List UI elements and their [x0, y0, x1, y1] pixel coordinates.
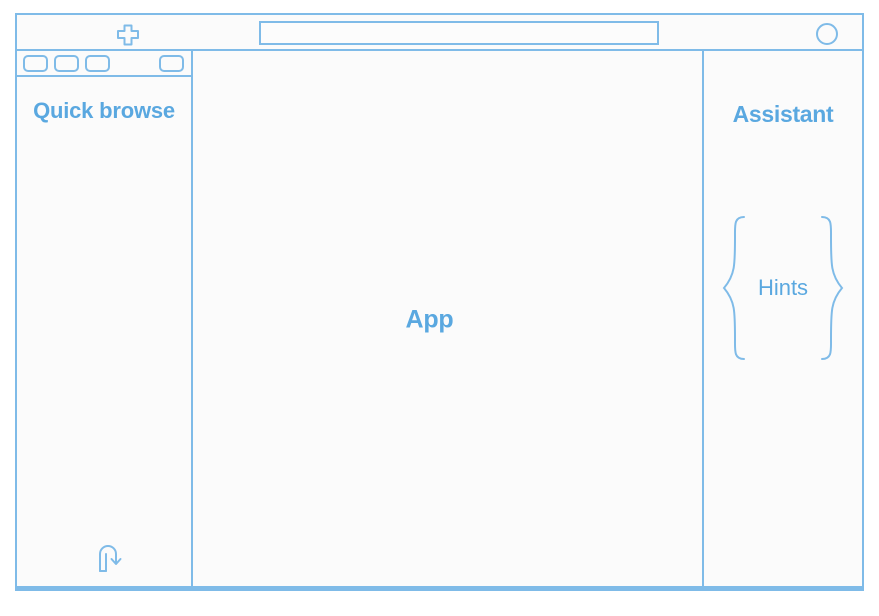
app-window-frame: Quick browse App Assistant Hints [15, 13, 864, 588]
avatar-icon[interactable] [816, 23, 838, 45]
sidebar-title: Quick browse [17, 98, 191, 125]
app-panel: App [193, 53, 666, 586]
toolbar-button-1[interactable] [23, 55, 48, 72]
toolbar [17, 51, 191, 77]
toolbar-button-3[interactable] [85, 55, 110, 72]
hints-block: Hints [704, 215, 862, 361]
assistant-title: Assistant [704, 101, 862, 128]
assistant-panel: Assistant Hints [704, 53, 862, 586]
brace-right-icon [818, 215, 848, 361]
sidebar-panel: Quick browse [17, 77, 191, 586]
plus-icon[interactable] [115, 24, 141, 46]
window-bottom-rule [15, 588, 864, 591]
search-input[interactable] [259, 21, 659, 45]
app-label: App [193, 305, 666, 334]
u-turn-arrow-icon[interactable] [93, 541, 127, 573]
toolbar-button-4[interactable] [159, 55, 184, 72]
toolbar-button-2[interactable] [54, 55, 79, 72]
header-bar [17, 15, 862, 51]
